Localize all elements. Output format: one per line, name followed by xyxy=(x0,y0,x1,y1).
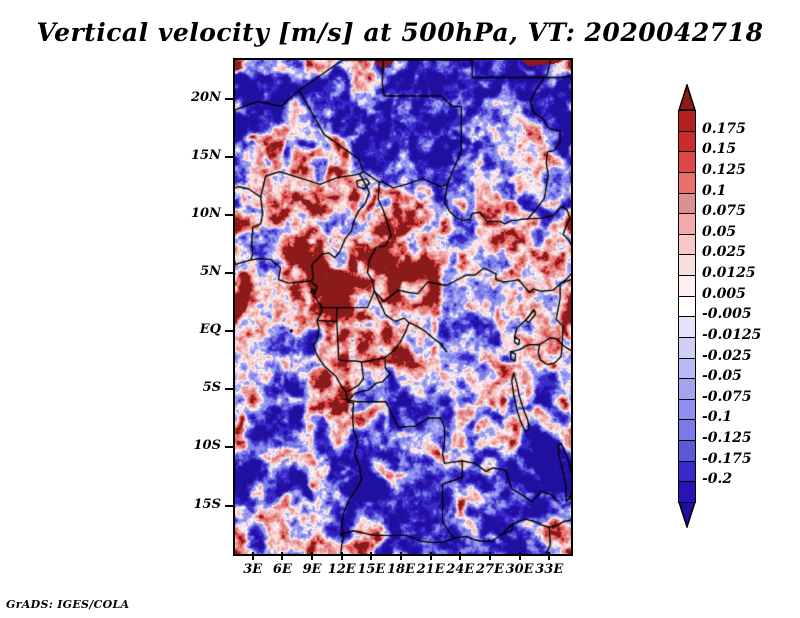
colorbar-segment xyxy=(678,399,696,421)
colorbar-tick-label: 0.15 xyxy=(702,141,736,157)
lon-label: 30E xyxy=(498,562,542,577)
colorbar xyxy=(678,84,696,528)
lat-label: 5S xyxy=(0,380,221,395)
lon-label: 9E xyxy=(290,562,334,577)
colorbar-segment xyxy=(678,316,696,338)
colorbar-tick-label: -0.2 xyxy=(702,471,732,487)
lon-label: 24E xyxy=(438,562,482,577)
lat-label: 15S xyxy=(0,497,221,512)
colorbar-segment xyxy=(678,461,696,483)
colorbar-segment xyxy=(678,213,696,235)
lat-tick xyxy=(225,214,233,216)
colorbar-tick-label: -0.075 xyxy=(702,389,752,405)
lon-label: 21E xyxy=(409,562,453,577)
colorbar-max-arrow xyxy=(678,84,696,110)
lat-tick xyxy=(225,156,233,158)
lat-label: 5N xyxy=(0,264,221,279)
colorbar-segment xyxy=(678,172,696,194)
colorbar-segment xyxy=(678,358,696,380)
lon-label: 3E xyxy=(231,562,275,577)
lon-label: 33E xyxy=(527,562,571,577)
lat-label: 15N xyxy=(0,148,221,163)
lat-tick xyxy=(225,272,233,274)
colorbar-segment xyxy=(678,296,696,318)
lon-label: 6E xyxy=(260,562,304,577)
colorbar-tick-label: -0.005 xyxy=(702,306,752,322)
colorbar-segment xyxy=(678,193,696,215)
colorbar-segment xyxy=(678,337,696,359)
colorbar-segment xyxy=(678,440,696,462)
colorbar-tick-label: 0.1 xyxy=(702,183,726,199)
lat-tick xyxy=(225,388,233,390)
colorbar-segment xyxy=(678,234,696,256)
colorbar-tick-label: 0.125 xyxy=(702,162,746,178)
colorbar-tick-label: 0.0125 xyxy=(702,265,756,281)
colorbar-tick-label: 0.075 xyxy=(702,203,746,219)
colorbar-segment xyxy=(678,275,696,297)
lon-label: 27E xyxy=(468,562,512,577)
colorbar-segment xyxy=(678,151,696,173)
lat-label: 10S xyxy=(0,438,221,453)
lat-tick xyxy=(225,330,233,332)
colorbar-segment xyxy=(678,378,696,400)
lat-tick xyxy=(225,98,233,100)
page-title: Vertical velocity [m/s] at 500hPa, VT: 2… xyxy=(0,18,800,47)
colorbar-tick-label: -0.025 xyxy=(702,348,752,364)
colorbar-tick-label: -0.175 xyxy=(702,451,752,467)
colorbar-tick-label: -0.1 xyxy=(702,409,732,425)
lat-label: 20N xyxy=(0,90,221,105)
map-plot-area xyxy=(233,58,573,556)
lon-label: 12E xyxy=(320,562,364,577)
colorbar-segment xyxy=(678,481,696,503)
colorbar-tick-label: 0.175 xyxy=(702,121,746,137)
lat-tick xyxy=(225,446,233,448)
colorbar-min-arrow xyxy=(678,502,696,528)
lat-label: 10N xyxy=(0,206,221,221)
credit-text: GrADS: IGES/COLA xyxy=(6,598,129,611)
lon-label: 15E xyxy=(349,562,393,577)
colorbar-segment xyxy=(678,131,696,153)
colorbar-segment xyxy=(678,110,696,132)
colorbar-segment xyxy=(678,254,696,276)
colorbar-tick-label: 0.005 xyxy=(702,286,746,302)
colorbar-tick-label: -0.125 xyxy=(702,430,752,446)
lat-tick xyxy=(225,505,233,507)
lat-label: EQ xyxy=(0,322,221,337)
country-borders-overlay xyxy=(235,60,571,554)
lon-label: 18E xyxy=(379,562,423,577)
colorbar-tick-label: 0.025 xyxy=(702,244,746,260)
colorbar-tick-label: 0.05 xyxy=(702,224,736,240)
colorbar-tick-label: -0.05 xyxy=(702,368,742,384)
colorbar-segment xyxy=(678,419,696,441)
colorbar-tick-label: -0.0125 xyxy=(702,327,761,343)
